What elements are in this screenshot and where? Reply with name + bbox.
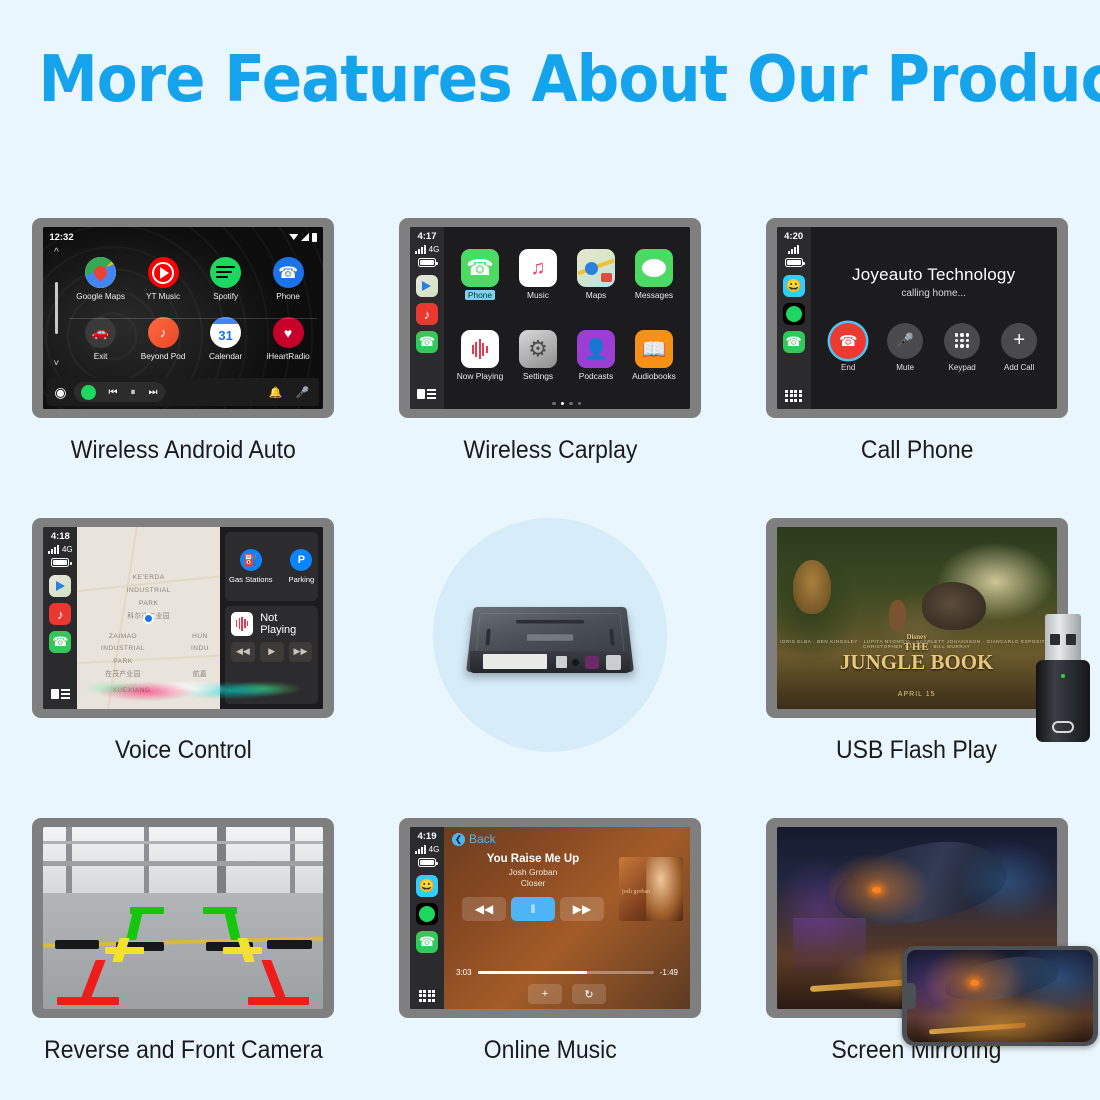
usb-media-screen[interactable]: IDRIS ELBA · BEN KINGSLEY · LUPITA NYONG… (777, 527, 1057, 709)
carplay-home: 4:17 4G ♪ ☎ (410, 227, 690, 409)
track-album: Closer (454, 878, 612, 888)
music-layout: 4:19 4G 😀 ☎ (410, 827, 690, 1009)
feature-card-voice-control: 4:18 4G ♪ ☎ (0, 518, 367, 818)
box-front-face (470, 651, 630, 673)
garage-ceiling (43, 827, 323, 893)
phone-notch (907, 983, 916, 1009)
feature-caption: Wireless Android Auto (71, 436, 296, 465)
android-auto-screen[interactable]: 12:32 ^ ˅ (43, 227, 323, 409)
usb-connector (1045, 614, 1081, 666)
app-phone[interactable]: ☎ Phone (257, 249, 320, 309)
app-settings[interactable]: ⚙ Settings (510, 316, 566, 395)
wheel-stopper (55, 940, 100, 949)
current-location-dot (143, 613, 154, 624)
carplay-screen[interactable]: 4:17 4G ♪ ☎ (410, 227, 690, 409)
app-label: Calendar (209, 352, 242, 361)
end-call-button[interactable]: ☎ End (830, 323, 866, 372)
netease-music-icon[interactable]: ♪ (416, 303, 438, 325)
android-auto-app-grid: Google Maps YT Music (69, 249, 319, 369)
page-dot[interactable] (552, 402, 556, 406)
feature-card-online-music: 4:19 4G 😀 ☎ (367, 818, 734, 1100)
add-to-library-button[interactable]: + (528, 984, 562, 1004)
poi-label: Gas Stations (229, 575, 272, 584)
car-display-bezel: 4:17 4G ♪ ☎ (399, 218, 701, 418)
exit-car-icon: 🚗 (85, 317, 116, 348)
call-screen[interactable]: 4:20 😀 ☎ (777, 227, 1057, 409)
rewind-button[interactable]: ◀◀ (231, 642, 255, 662)
app-grid-icon[interactable] (785, 390, 802, 402)
music-sidebar: 4:19 4G 😀 ☎ (410, 827, 444, 1009)
guideline-red-left-tick (57, 997, 119, 1005)
map-label: HUN (129, 633, 220, 642)
audiobooks-icon: 📖 (635, 330, 673, 368)
app-label: Google Maps (76, 292, 125, 301)
android-auto-status-bar: 12:32 (43, 230, 323, 244)
page-title: More Features About Our Product (39, 48, 1062, 112)
calendar-icon: 31 (210, 317, 241, 348)
car-display-bezel: 4:18 4G ♪ ☎ (32, 518, 334, 718)
album-artwork: josh groban (619, 857, 683, 921)
progress-bar[interactable] (478, 971, 654, 974)
app-label: Messages (635, 290, 673, 300)
app-audiobooks[interactable]: 📖 Audiobooks (626, 316, 682, 395)
apple-maps-icon (577, 249, 615, 287)
usb-led-icon (1061, 674, 1065, 678)
carplay-app-area: ☎ Phone ♫ Music (444, 227, 690, 409)
fakra-connector (585, 656, 599, 669)
poi-card: ⛽ Gas Stations P Parking (225, 532, 318, 601)
spotify-icon[interactable] (783, 303, 805, 325)
waze-icon[interactable]: 😀 (783, 275, 805, 297)
youtube-music-icon (148, 257, 179, 288)
feature-card-android-auto: 12:32 ^ ˅ (0, 218, 367, 518)
usb-flash-drive (1036, 614, 1090, 742)
pause-button[interactable]: ‖ (511, 897, 555, 921)
character-eye (872, 887, 881, 893)
taskbar-right: 🔔 🎤 (269, 386, 312, 399)
track-info: You Raise Me Up Josh Groban Closer ◀◀ ‖ … (454, 853, 612, 921)
chevron-up-icon[interactable]: ^ (54, 247, 59, 258)
product-feature-page: More Features About Our Product 12:32 (0, 48, 1100, 1100)
network-label: 4G (429, 845, 440, 854)
keypad-button[interactable]: Keypad (944, 323, 980, 372)
caller-name: Joyeauto Technology (852, 265, 1015, 285)
track-title: You Raise Me Up (454, 853, 612, 865)
transport-controls: ◀◀ ▶ ▶▶ (231, 642, 312, 662)
app-label: Podcasts (579, 371, 613, 381)
rewind-button[interactable]: ◀◀ (462, 897, 506, 921)
feature-card-call-phone: 4:20 😀 ☎ (733, 218, 1100, 518)
google-assistant-mic-icon[interactable]: 🎤 (296, 386, 310, 399)
power-connector (483, 654, 547, 669)
call-layout: 4:20 😀 ☎ (777, 227, 1057, 409)
parking-p-icon: P (290, 549, 312, 571)
game-artwork-mirrored (907, 950, 1093, 1042)
back-button[interactable]: ❮ Back (452, 832, 496, 846)
android-auto-taskbar: ◉ ⏮ ⏸ ⏭ 🔔 🎤 (47, 378, 319, 406)
track-artist: Josh Groban (454, 867, 612, 877)
now-playing-list-icon[interactable] (416, 383, 438, 405)
page-dot-active[interactable] (561, 402, 565, 406)
poi-label: Parking (289, 575, 315, 584)
app-maps[interactable]: Maps (568, 235, 624, 314)
poi-parking[interactable]: P Parking (289, 549, 315, 584)
bell-icon[interactable]: 🔔 (269, 386, 283, 399)
play-button[interactable]: ▶ (260, 642, 284, 662)
now-playing-list-icon[interactable] (49, 683, 71, 705)
voice-control-screen[interactable]: 4:18 4G ♪ ☎ (43, 527, 323, 709)
signal-icon (788, 245, 799, 254)
status-time: 4:18 (51, 531, 70, 542)
sidebar-app-icons: 😀 ☎ (783, 275, 805, 353)
now-playing-icon (461, 330, 499, 368)
previous-track-button[interactable]: ⏮ (109, 387, 118, 398)
carplay-sidebar: 4:17 4G ♪ ☎ (410, 227, 444, 409)
maps-icon[interactable] (49, 575, 71, 597)
playback-controls: ◀◀ ‖ ▶▶ (454, 897, 612, 921)
wifi-icon (289, 234, 298, 240)
app-label: Phone (465, 290, 495, 300)
voice-main: KE'ERDA INDUSTRIAL PARK 科尔达工业园 ZAIMAO IN… (77, 527, 323, 709)
guideline-green-left-tick (130, 907, 164, 914)
car-display-bezel: IDRIS ELBA · BEN KINGSLEY · LUPITA NYONG… (766, 518, 1068, 718)
guideline-yellow-left-tick (105, 947, 144, 954)
chevron-down-icon[interactable]: ˅ (53, 358, 59, 369)
sidebar-app-icons: 😀 ☎ (416, 875, 438, 953)
feature-caption: Online Music (484, 1036, 617, 1065)
fire-trail (929, 1023, 1026, 1035)
app-label: Exit (94, 352, 108, 361)
status-time: 12:32 (49, 232, 73, 243)
network-label: 4G (429, 245, 440, 254)
app-label: Settings (523, 371, 553, 381)
button-label: Keypad (949, 363, 976, 372)
phone-icon[interactable]: ☎ (416, 331, 438, 353)
now-playing-row: Not Playing (231, 612, 312, 636)
phone-screen (907, 950, 1093, 1042)
feature-caption: Wireless Carplay (463, 436, 637, 465)
camera-feed (43, 827, 323, 1009)
netease-music-icon[interactable]: ♪ (49, 603, 71, 625)
car-display-bezel: 12:32 ^ ˅ (32, 218, 334, 418)
android-auto-scroll-rail[interactable]: ^ ˅ (48, 247, 64, 369)
usb-port (556, 656, 567, 668)
feature-caption: Voice Control (115, 736, 252, 765)
page-dot[interactable] (578, 402, 582, 406)
network-label: 4G (62, 545, 73, 554)
progress-area[interactable]: 3:03 -1:49 (456, 968, 678, 977)
signal-icon (301, 233, 309, 241)
pause-button[interactable]: ⏸ (131, 387, 136, 398)
feature-card-usb-flash-play: IDRIS ELBA · BEN KINGSLEY · LUPITA NYONG… (733, 518, 1100, 818)
app-podcasts[interactable]: 👤 Podcasts (568, 316, 624, 395)
voice-sidebar: 4:18 4G ♪ ☎ (43, 527, 77, 709)
mowgli-figure (889, 600, 906, 632)
poster-title: Disney THE JUNGLE BOOK (777, 633, 1057, 673)
poster-release-date: APRIL 15 (777, 691, 1057, 698)
phone-icon: ☎ (461, 249, 499, 287)
app-label: Beyond Pod (141, 352, 186, 361)
car-display-bezel (766, 818, 1068, 1018)
spotify-icon (210, 257, 241, 288)
mic-port (572, 659, 579, 666)
status-time: 4:17 (417, 231, 436, 242)
waze-icon[interactable]: 😀 (416, 875, 438, 897)
apple-music-icon: ♫ (519, 249, 557, 287)
status-icons (289, 233, 317, 242)
lvds-connector (606, 655, 621, 670)
app-grid-icon[interactable] (419, 990, 436, 1002)
app-label: Now Playing (457, 371, 504, 381)
tiger-figure (793, 560, 831, 614)
app-label: Music (527, 290, 549, 300)
guideline-green-right-tick (203, 907, 237, 914)
signal-icon: 4G (415, 845, 440, 854)
messages-icon (635, 249, 673, 287)
page-indicator[interactable] (444, 402, 690, 406)
fast-forward-button[interactable]: ▶▶ (560, 897, 604, 921)
phone-icon: ☎ (273, 257, 304, 288)
add-call-plus-icon: + (1001, 323, 1037, 359)
app-now-playing[interactable]: Now Playing (452, 316, 508, 395)
app-phone[interactable]: ☎ Phone (452, 235, 508, 314)
music-main: ❮ Back You Raise Me Up Josh Groban Close… (444, 827, 690, 1009)
carplay-app-grid: ☎ Phone ♫ Music (444, 227, 690, 409)
map-label: KE'ERDA (77, 574, 220, 583)
map-label: PARK (77, 600, 220, 609)
extra-controls: + ↻ (444, 984, 690, 1004)
keypad-icon (944, 323, 980, 359)
siri-waveform (77, 663, 323, 709)
mute-button[interactable]: 🎤 Mute (887, 323, 923, 372)
add-call-button[interactable]: + Add Call (1001, 323, 1037, 372)
feature-grid: 12:32 ^ ˅ (0, 218, 1100, 1100)
poster-artwork (777, 527, 1057, 709)
call-content: Joyeauto Technology calling home... ☎ En… (811, 227, 1057, 409)
feature-card-carplay: 4:17 4G ♪ ☎ (367, 218, 734, 518)
car-display-bezel (32, 818, 334, 1018)
guideline-red-right-tick (248, 997, 310, 1005)
signal-icon: 4G (48, 545, 73, 554)
maps-icon[interactable] (416, 275, 438, 297)
usb-lanyard-slot (1052, 721, 1074, 733)
reverse-camera-screen[interactable] (43, 827, 323, 1009)
now-playing-icon (231, 612, 253, 636)
feature-caption: Reverse and Front Camera (44, 1036, 323, 1065)
app-yt-music[interactable]: YT Music (132, 249, 195, 309)
mute-microphone-icon: 🎤 (887, 323, 923, 359)
app-label: Spotify (213, 292, 238, 301)
bear-figure (922, 582, 986, 630)
poster-title-line2: JUNGLE BOOK (777, 653, 1057, 673)
back-label: Back (469, 832, 496, 846)
call-main: Joyeauto Technology calling home... ☎ En… (811, 227, 1057, 409)
artwork-label: josh groban (622, 889, 650, 895)
app-spotify[interactable]: Spotify (194, 249, 257, 309)
app-google-maps[interactable]: Google Maps (69, 249, 132, 309)
row-divider (69, 318, 317, 319)
map-label: INDUSTRIAL (77, 587, 220, 596)
app-music[interactable]: ♫ Music (510, 235, 566, 314)
gas-station-icon: ⛽ (240, 549, 262, 571)
character-eye (970, 980, 979, 986)
battery-icon (312, 233, 317, 242)
map-label: INDU (129, 645, 220, 654)
media-controls: ⏮ ⏸ ⏭ (74, 382, 165, 402)
movie-poster: IDRIS ELBA · BEN KINGSLEY · LUPITA NYONG… (777, 527, 1057, 709)
battery-icon (418, 258, 436, 267)
chevron-left-icon: ❮ (452, 833, 465, 846)
character-cape (942, 951, 1062, 1005)
spotify-icon[interactable] (81, 385, 96, 400)
google-maps-icon (85, 257, 116, 288)
status-time: 4:19 (417, 831, 436, 842)
app-label: Audiobooks (632, 371, 676, 381)
phone-icon[interactable]: ☎ (783, 331, 805, 353)
home-circle-icon[interactable]: ◉ (54, 384, 66, 401)
wheel-stopper (267, 940, 312, 949)
call-actions: ☎ End 🎤 Mute (830, 323, 1037, 372)
elapsed-time: 3:03 (456, 968, 472, 977)
button-label: End (841, 363, 855, 372)
app-label: Maps (586, 290, 606, 300)
button-label: Mute (896, 363, 914, 372)
battery-icon (785, 258, 803, 267)
battery-icon (51, 558, 69, 567)
repeat-button[interactable]: ↻ (572, 984, 606, 1004)
car-display-bezel: 4:19 4G 😀 ☎ (399, 818, 701, 1018)
phone-icon[interactable]: ☎ (416, 931, 438, 953)
poster-studio: Disney (777, 633, 1057, 641)
guideline-yellow-right-tick (223, 947, 262, 954)
signal-icon: 4G (415, 245, 440, 254)
car-display-bezel: 4:20 😀 ☎ (766, 218, 1068, 418)
button-label: Add Call (1004, 363, 1034, 372)
call-sidebar: 4:20 😀 ☎ (777, 227, 811, 409)
product-interface-box (470, 597, 630, 673)
sidebar-app-icons: ♪ ☎ (49, 575, 71, 653)
status-time: 4:20 (784, 231, 803, 242)
sidebar-app-icons: ♪ ☎ (416, 275, 438, 353)
mirrored-phone (902, 946, 1098, 1046)
end-call-icon: ☎ (830, 323, 866, 359)
feature-caption: Call Phone (860, 436, 973, 465)
app-messages[interactable]: Messages (626, 235, 682, 314)
feature-card-screen-mirroring: Screen Mirroring (733, 818, 1100, 1100)
feature-card-product-box (367, 518, 734, 818)
iheartradio-icon: ♥ (273, 317, 304, 348)
poi-gas-stations[interactable]: ⛽ Gas Stations (229, 549, 272, 584)
call-status-text: calling home... (901, 288, 965, 299)
calendar-day: 31 (218, 328, 232, 343)
feature-card-reverse-camera: Reverse and Front Camera (0, 818, 367, 1100)
fast-forward-button[interactable]: ▶▶ (289, 642, 313, 662)
remaining-time: -1:49 (660, 968, 678, 977)
scrollbar-thumb[interactable] (55, 282, 58, 334)
character-cape (828, 833, 1011, 933)
beyond-pod-icon: ♪ (148, 317, 179, 348)
city-skyline (793, 918, 866, 973)
music-background: ❮ Back You Raise Me Up Josh Groban Close… (444, 827, 690, 1009)
phone-icon[interactable]: ☎ (49, 631, 71, 653)
spotify-icon[interactable] (416, 903, 438, 925)
app-label: iHeartRadio (266, 352, 309, 361)
feature-caption: USB Flash Play (836, 736, 997, 765)
battery-icon (418, 858, 436, 867)
voice-layout: 4:18 4G ♪ ☎ (43, 527, 323, 709)
product-circle-backdrop (433, 518, 667, 752)
usb-body (1036, 660, 1090, 742)
page-dot[interactable] (569, 402, 573, 406)
next-track-button[interactable]: ⏭ (149, 387, 158, 398)
music-player-screen[interactable]: 4:19 4G 😀 ☎ (410, 827, 690, 1009)
now-playing-label: Not Playing (260, 612, 312, 636)
app-label: Phone (276, 292, 300, 301)
settings-gear-icon: ⚙ (519, 330, 557, 368)
podcasts-icon: 👤 (577, 330, 615, 368)
app-label: YT Music (146, 292, 180, 301)
